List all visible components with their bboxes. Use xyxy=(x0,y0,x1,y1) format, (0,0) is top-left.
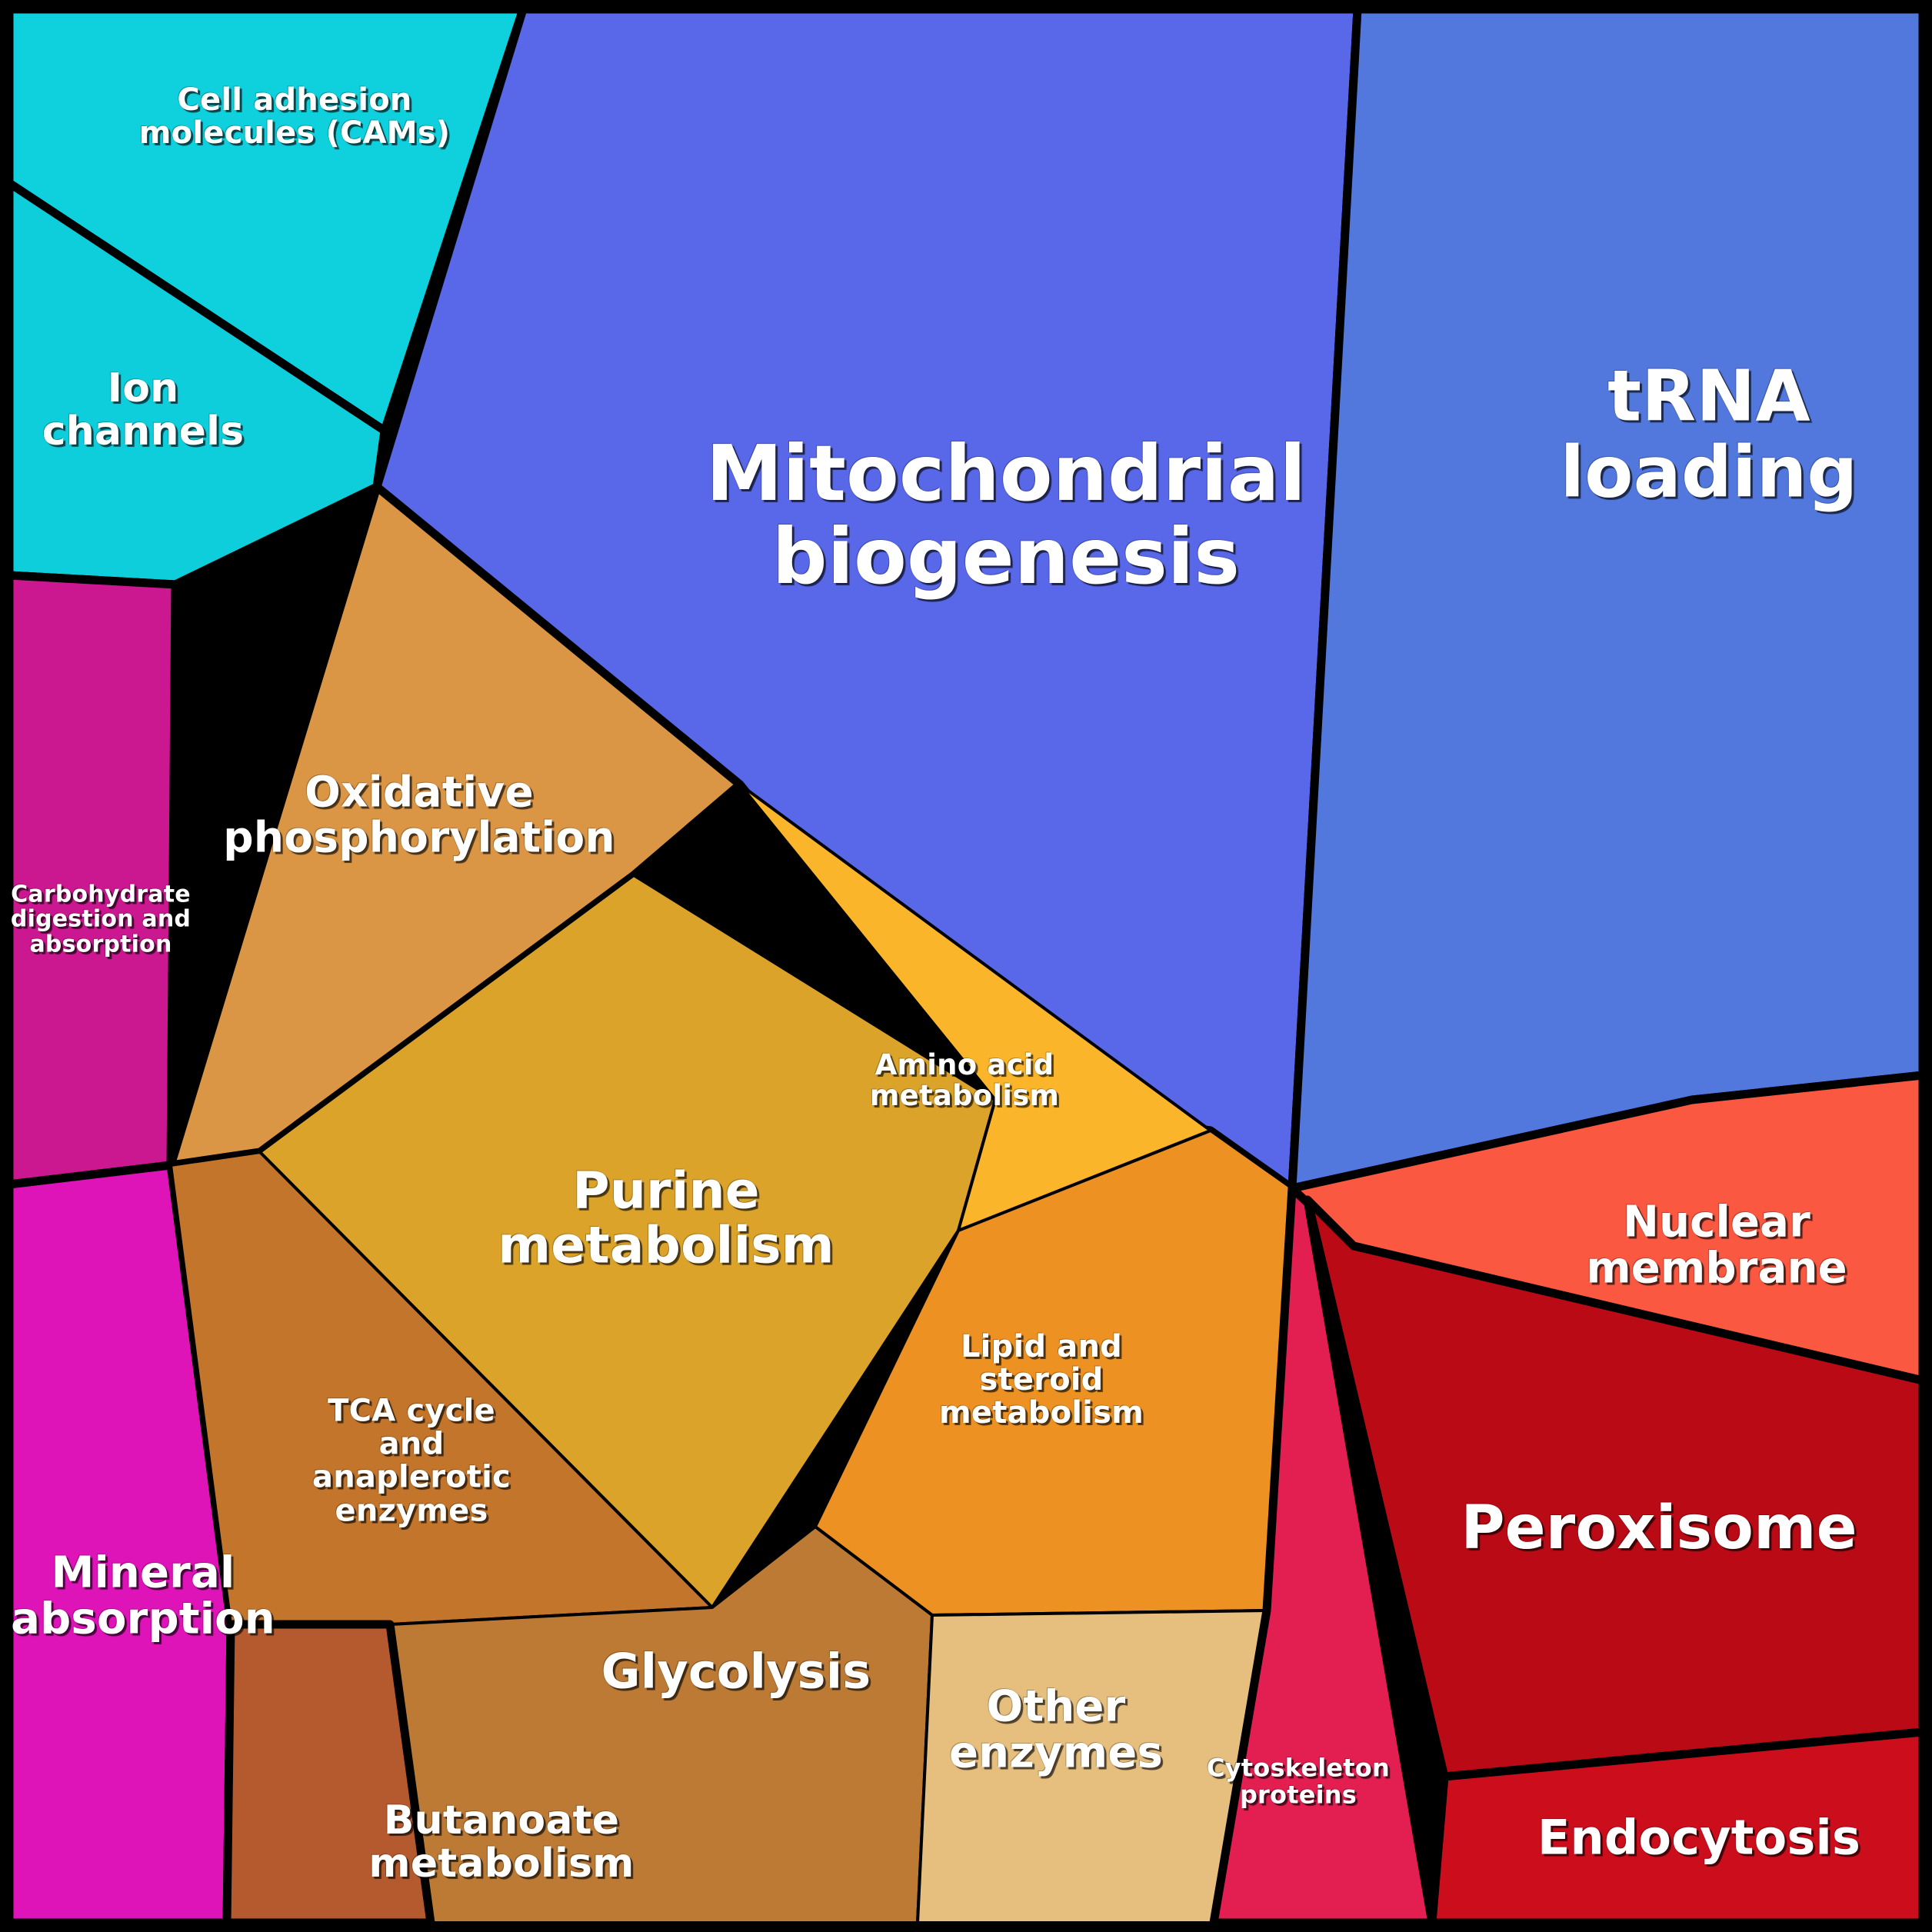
treemap-cell[interactable] xyxy=(9,575,175,1184)
treemap-cell[interactable] xyxy=(918,1611,1267,1923)
treemap-cells-layer xyxy=(9,9,1923,1923)
treemap-cell[interactable] xyxy=(1292,9,1923,1188)
treemap-svg xyxy=(0,0,1932,1932)
treemap-cell[interactable] xyxy=(227,1624,431,1923)
voronoi-treemap-figure: Cell adhesion molecules (CAMs)Ion channe… xyxy=(0,0,1932,1932)
